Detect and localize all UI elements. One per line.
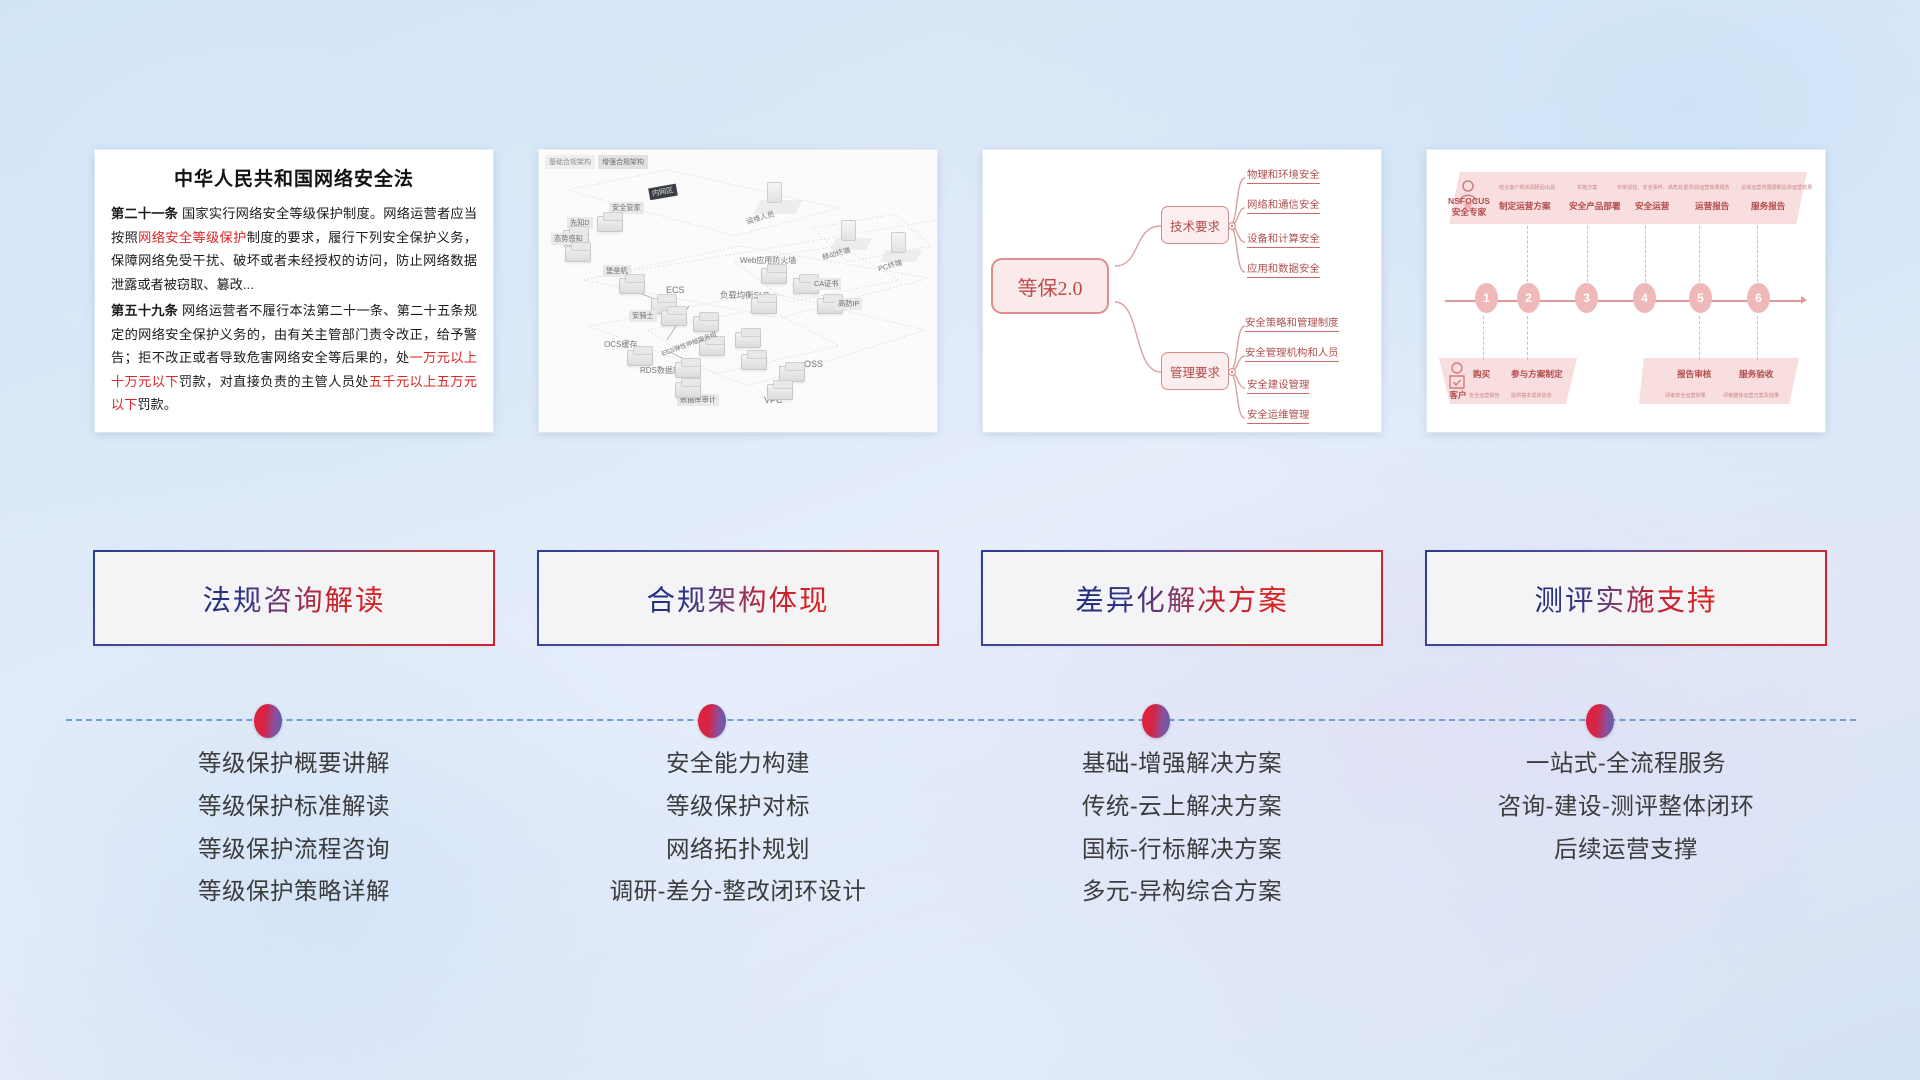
ops-top-sub-4: 阶段运营效果报告 — [1689, 184, 1730, 191]
mind-branch-technical[interactable]: 技术要求 — [1161, 206, 1229, 244]
list-item: 等级保护策略详解 — [95, 870, 493, 913]
ops-top-title-1: 制定运营方案 — [1499, 200, 1551, 212]
ops-axis-arrow-icon — [1801, 296, 1807, 304]
article-59-mid: 罚款，对直接负责的主管人员处 — [179, 374, 369, 389]
card-mind-map[interactable]: 等保2.0 技术要求 物理和环境安全 网络和通信安全 设备和计算安全 应用和数据… — [983, 150, 1381, 432]
architecture-diagram: 基础合规架构 增强合规架构 — [539, 150, 937, 432]
ops-step-4[interactable]: 4 — [1633, 283, 1656, 313]
arch-icon-db-audit — [675, 382, 701, 398]
arch-label-anqishi: 安骑士 — [629, 310, 657, 322]
mind-leaf-security-org-personnel: 安全管理机构和人员 — [1245, 344, 1339, 362]
ops-bottom-title-4: 服务验收 — [1739, 368, 1773, 380]
list-item: 等级保护概要讲解 — [95, 742, 493, 785]
ops-top-sub-3: 日常巡检、安全事件、高危处置 — [1617, 184, 1688, 191]
detail-column-1: 等级保护概要讲解 等级保护标准解读 等级保护流程咨询 等级保护策略详解 — [95, 742, 493, 972]
list-item: 多元-异构综合方案 — [983, 870, 1381, 913]
article-59-label: 第五十九条 — [111, 303, 178, 318]
expert-label: NSFOCUS 安全专家 — [1447, 196, 1491, 218]
list-item: 等级保护标准解读 — [95, 785, 493, 828]
arch-label-ca-cert: CA证书 — [811, 278, 841, 290]
card-cloud-architecture[interactable]: 基础合规架构 增强合规架构 — [539, 150, 937, 432]
mind-leaf-app-data-security: 应用和数据安全 — [1247, 260, 1320, 278]
ops-bottom-sub-1: 安全运营报告 — [1469, 392, 1500, 399]
ops-connector-b1 — [1483, 316, 1484, 360]
list-item: 等级保护流程咨询 — [95, 828, 493, 871]
timeline-dot-3[interactable] — [1142, 704, 1170, 738]
arch-icon-waf — [761, 268, 787, 284]
mind-leaf-network-comm-security: 网络和通信安全 — [1247, 196, 1320, 214]
ops-step-3[interactable]: 3 — [1575, 283, 1598, 313]
arch-icon-security-butler — [597, 216, 623, 232]
arch-icon-ecs-group-4 — [741, 354, 767, 370]
mind-map-content: 等保2.0 技术要求 物理和环境安全 网络和通信安全 设备和计算安全 应用和数据… — [983, 150, 1381, 432]
arch-icon-slb — [751, 298, 777, 314]
arch-icon-ops-person — [767, 182, 782, 203]
ops-step-6[interactable]: 6 — [1747, 283, 1770, 313]
header-box-3[interactable]: 差异化解决方案 — [983, 552, 1381, 644]
law-article-59: 第五十九条 网络运营者不履行本法第二十一条、第二十五条规定的网络安全保护义务的，… — [111, 299, 477, 417]
ops-bottom-title-2: 参与方案制定 — [1511, 368, 1563, 380]
header-title-1: 法规咨询解读 — [202, 578, 385, 619]
list-item: 咨询-建设-测评整体闭环 — [1427, 785, 1825, 828]
detail-column-4: 一站式-全流程服务 咨询-建设-测评整体闭环 后续运营支撑 — [1427, 742, 1825, 972]
arch-icon-pc-terminal — [891, 232, 906, 253]
mind-leaf-security-build-mgmt: 安全建设管理 — [1247, 376, 1309, 394]
arch-label-anti-ddos-ip: 高防IP — [835, 298, 862, 310]
arch-icon-vpc — [767, 384, 793, 400]
ops-connector-2 — [1527, 226, 1528, 282]
detail-lists-row: 等级保护概要讲解 等级保护标准解读 等级保护流程咨询 等级保护策略详解 安全能力… — [0, 742, 1920, 972]
timeline-row — [0, 700, 1920, 740]
card-law-text[interactable]: 中华人民共和国网络安全法 第二十一条 国家实行网络安全等级保护制度。网络运营者应… — [95, 150, 493, 432]
customer-person-icon — [1447, 362, 1467, 392]
ops-bottom-title-3: 报告审核 — [1677, 368, 1711, 380]
mind-branch-management[interactable]: 管理要求 — [1161, 352, 1229, 390]
expert-label-line2: 安全专家 — [1452, 207, 1486, 217]
ops-bottom-title-1: 购买 — [1473, 368, 1490, 380]
mind-leaf-security-policy-system: 安全策略和管理制度 — [1245, 314, 1339, 332]
arch-icon-anqishi — [661, 310, 687, 326]
customer-label: 客户 — [1445, 390, 1471, 401]
header-title-3: 差异化解决方案 — [1075, 578, 1289, 619]
list-item: 后续运营支撑 — [1427, 828, 1825, 871]
arch-icon-mobile-terminal — [841, 220, 856, 241]
article-21-label: 第二十一条 — [111, 206, 178, 221]
card-ops-timeline[interactable]: NSFOCUS 安全专家 制定运营方案 结合客户现状调研后出具 安全产品部署 实… — [1427, 150, 1825, 432]
section-headers-row: 法规咨询解读 合规架构体现 差异化解决方案 测评实施支持 — [0, 552, 1920, 644]
ops-timeline-content: NSFOCUS 安全专家 制定运营方案 结合客户现状调研后出具 安全产品部署 实… — [1427, 150, 1825, 432]
ops-top-sub-5: 总体运营范围周期总体运营效果 — [1741, 184, 1812, 191]
mind-leaf-physical-env-security: 物理和环境安全 — [1247, 166, 1320, 184]
mind-root-node[interactable]: 等保2.0 — [991, 258, 1109, 314]
mind-leaf-security-ops-mgmt: 安全运维管理 — [1247, 406, 1309, 424]
article-59-end: 罚款。 — [137, 397, 177, 412]
list-item: 安全能力构建 — [539, 742, 937, 785]
law-article-21: 第二十一条 国家实行网络安全等级保护制度。网络运营者应当按照网络安全等级保护制度… — [111, 202, 477, 296]
ops-connector-3 — [1587, 226, 1588, 282]
header-title-2: 合规架构体现 — [646, 578, 829, 619]
list-item: 传统-云上解决方案 — [983, 785, 1381, 828]
mind-leaf-device-compute-security: 设备和计算安全 — [1247, 230, 1320, 248]
ops-step-1[interactable]: 1 — [1475, 283, 1498, 313]
ops-top-title-5: 服务报告 — [1751, 200, 1785, 212]
ops-step-5[interactable]: 5 — [1689, 283, 1712, 313]
detail-column-2: 安全能力构建 等级保护对标 网络拓扑规划 调研-差分-整改闭环设计 — [539, 742, 937, 972]
ops-bottom-sub-4: 评审整体运营方案及效果 — [1723, 392, 1779, 399]
ops-band-expert — [1449, 172, 1807, 224]
timeline-dot-2[interactable] — [698, 704, 726, 738]
expert-label-line1: NSFOCUS — [1448, 196, 1490, 206]
ops-top-sub-1: 结合客户现状调研后出具 — [1499, 184, 1555, 191]
ops-connector-5 — [1699, 226, 1700, 282]
ops-top-title-4: 运营报告 — [1695, 200, 1729, 212]
list-item: 等级保护对标 — [539, 785, 937, 828]
arch-icon-ecs-group-3 — [735, 332, 761, 348]
law-card-content: 中华人民共和国网络安全法 第二十一条 国家实行网络安全等级保护制度。网络运营者应… — [95, 150, 493, 432]
timeline-dot-4[interactable] — [1586, 704, 1614, 738]
ops-top-title-3: 安全运营 — [1635, 200, 1669, 212]
list-item: 网络拓扑规划 — [539, 828, 937, 871]
list-item: 一站式-全流程服务 — [1427, 742, 1825, 785]
ops-connector-b2 — [1527, 316, 1528, 360]
header-box-2[interactable]: 合规架构体现 — [539, 552, 937, 644]
arch-icon-situational-awareness — [565, 246, 591, 262]
header-box-4[interactable]: 测评实施支持 — [1427, 552, 1825, 644]
law-title: 中华人民共和国网络安全法 — [111, 164, 477, 191]
list-item: 调研-差分-整改闭环设计 — [539, 870, 937, 913]
ops-step-2[interactable]: 2 — [1517, 283, 1540, 313]
timeline-dot-1[interactable] — [254, 704, 282, 738]
header-box-1[interactable]: 法规咨询解读 — [95, 552, 493, 644]
arch-icon-rds — [675, 362, 701, 378]
ops-bottom-sub-3: 评审安全运营效果 — [1665, 392, 1706, 399]
detail-column-3: 基础-增强解决方案 传统-云上解决方案 国标-行标解决方案 多元-异构综合方案 — [983, 742, 1381, 972]
article-21-highlight: 网络安全等级保护 — [138, 230, 247, 245]
list-item: 基础-增强解决方案 — [983, 742, 1381, 785]
arch-icon-bastion-host — [619, 278, 645, 294]
ops-connector-b6 — [1757, 316, 1758, 360]
header-title-4: 测评实施支持 — [1534, 578, 1717, 619]
preview-cards-row: 中华人民共和国网络安全法 第二十一条 国家实行网络安全等级保护制度。网络运营者应… — [0, 150, 1920, 440]
ops-connector-6 — [1757, 226, 1758, 282]
ops-bottom-sub-2: 提供基本现状信息 — [1511, 392, 1552, 399]
ops-connector-4 — [1645, 226, 1646, 282]
ops-connector-b5 — [1699, 316, 1700, 360]
ops-top-sub-2: 实施方案 — [1577, 184, 1597, 191]
ops-top-title-2: 安全产品部署 — [1569, 200, 1621, 212]
list-item: 国标-行标解决方案 — [983, 828, 1381, 871]
